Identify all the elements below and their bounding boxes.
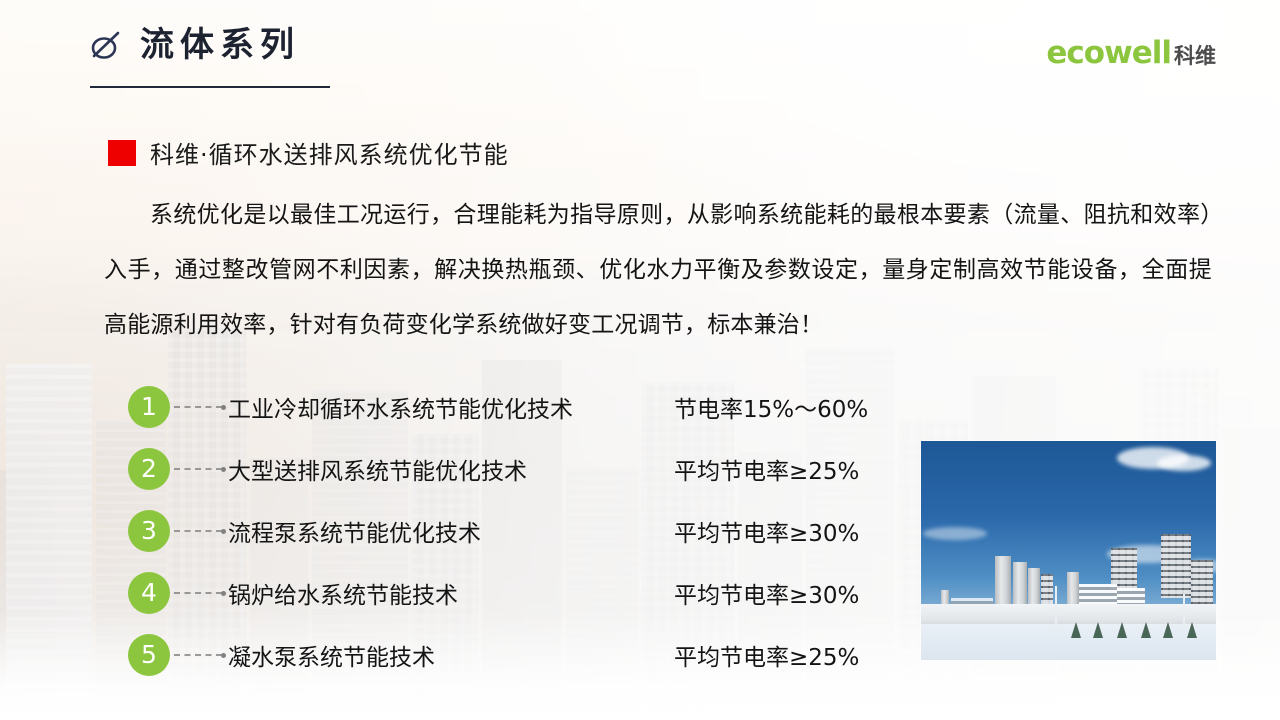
photo-tree xyxy=(1071,622,1081,638)
body-paragraph: 系统优化是以最佳工况运行，合理能耗为指导原则，从影响系统能耗的最根本要素（流量、… xyxy=(104,188,1212,353)
section-heading-label: 科维·循环水送排风系统优化节能 xyxy=(150,135,509,170)
technology-list: 1 工业冷却循环水系统节能优化技术 节电率15%～60% 2 大型送排风系统节能… xyxy=(128,376,928,686)
list-item-value: 平均节电率≥30% xyxy=(674,514,859,548)
list-item: 4 锅炉给水系统节能技术 平均节电率≥30% xyxy=(128,562,928,624)
list-item-number-badge: 2 xyxy=(128,448,170,490)
ecowell-logo: ecowell 科维 xyxy=(1046,38,1216,69)
list-item-label: 凝水泵系统节能技术 xyxy=(228,638,435,672)
list-item: 5 凝水泵系统节能技术 平均节电率≥25% xyxy=(128,624,928,686)
photo-plant-tower xyxy=(1161,534,1191,598)
list-item: 1 工业冷却循环水系统节能优化技术 节电率15%～60% xyxy=(128,376,928,438)
page-title: 流体系列 xyxy=(140,28,300,62)
photo-light-pole xyxy=(1183,594,1185,634)
photo-light-pole xyxy=(1055,586,1057,634)
logo-wordmark: ecowell xyxy=(1046,38,1171,69)
list-item-value: 平均节电率≥30% xyxy=(674,576,859,610)
dashed-connector-icon xyxy=(174,592,222,594)
list-item-label: 流程泵系统节能优化技术 xyxy=(228,514,481,548)
photo-tree xyxy=(1117,622,1127,638)
list-item-number-badge: 4 xyxy=(128,572,170,614)
red-square-bullet-icon xyxy=(108,140,136,166)
list-item-value: 平均节电率≥25% xyxy=(674,452,859,486)
list-item-number-badge: 1 xyxy=(128,386,170,428)
industrial-plant-photo xyxy=(921,441,1216,660)
title-underline xyxy=(90,86,330,88)
dashed-connector-icon xyxy=(174,468,222,470)
list-item-value: 节电率15%～60% xyxy=(674,390,868,424)
photo-plant-tower xyxy=(1191,560,1213,606)
photo-cloud xyxy=(1157,455,1211,471)
dashed-connector-icon xyxy=(174,406,222,408)
photo-tree xyxy=(1187,622,1197,638)
photo-tree xyxy=(1093,622,1103,638)
list-item: 3 流程泵系统节能优化技术 平均节电率≥30% xyxy=(128,500,928,562)
list-item-label: 工业冷却循环水系统节能优化技术 xyxy=(228,390,573,424)
photo-tree xyxy=(1141,622,1151,638)
photo-cloud xyxy=(923,527,987,540)
list-item: 2 大型送排风系统节能优化技术 平均节电率≥25% xyxy=(128,438,928,500)
fluid-diameter-icon xyxy=(88,28,122,62)
list-item-number-badge: 3 xyxy=(128,510,170,552)
list-item-value: 平均节电率≥25% xyxy=(674,638,859,672)
dashed-connector-icon xyxy=(174,530,222,532)
section-heading: 科维·循环水送排风系统优化节能 xyxy=(108,135,509,170)
slide-header: 流体系列 ecowell 科维 xyxy=(0,0,1280,110)
title-row: 流体系列 xyxy=(88,28,300,62)
list-item-number-badge: 5 xyxy=(128,634,170,676)
slide-canvas: 流体系列 ecowell 科维 科维·循环水送排风系统优化节能 系统优化是以最佳… xyxy=(0,0,1280,720)
list-item-label: 锅炉给水系统节能技术 xyxy=(228,576,458,610)
dashed-connector-icon xyxy=(174,654,222,656)
logo-chinese-name: 科维 xyxy=(1174,46,1216,69)
list-item-label: 大型送排风系统节能优化技术 xyxy=(228,452,527,486)
photo-tree xyxy=(1163,622,1173,638)
